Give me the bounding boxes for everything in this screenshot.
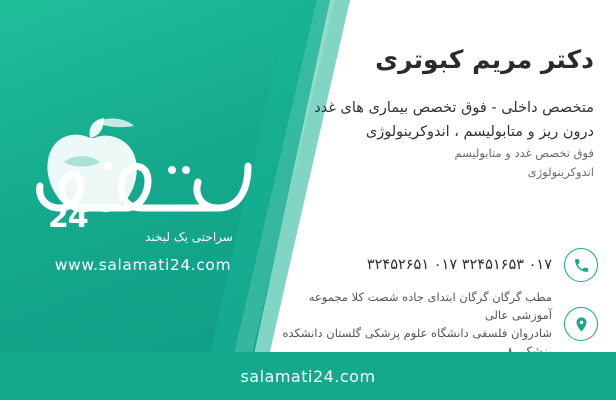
logo-brand-number: 24	[48, 200, 88, 235]
business-card: 24 سراحتی یک لبخند www.salamati24.com دک…	[0, 0, 616, 400]
specialty-line-4: اندوکرینولوژی	[274, 163, 594, 182]
footer-website: salamati24.com	[240, 367, 375, 386]
specialty-block: متخصص داخلی - فوق تخصص بیماری های غدد در…	[274, 96, 594, 182]
footer-bar: salamati24.com	[0, 352, 616, 400]
location-pin-icon	[564, 307, 598, 341]
specialty-line-3: فوق تخصص غدد و متابولیسم	[274, 144, 594, 163]
phone-row: ۳۲۴۵۲۶۵۱ ۰۱۷ ۳۲۴۵۱۶۵۳ ۰۱۷	[367, 248, 598, 282]
doctor-name: دکتر مریم کبوتری	[375, 45, 594, 74]
logo-website: www.salamati24.com	[28, 256, 258, 274]
logo-block: 24 سراحتی یک لبخند www.salamati24.com	[14, 108, 264, 283]
specialty-line-2: درون ریز و متابولیسم ، اندوکرینولوژی	[274, 120, 594, 144]
specialty-line-1: متخصص داخلی - فوق تخصص بیماری های غدد	[274, 96, 594, 120]
phone-numbers: ۳۲۴۵۲۶۵۱ ۰۱۷ ۳۲۴۵۱۶۵۳ ۰۱۷	[367, 257, 552, 273]
location-pin-glyph	[573, 316, 590, 333]
address-row: مطب گرگان گرگان ابتدای جاده شصت کلا مجمو…	[277, 288, 598, 360]
address-line-1: مطب گرگان گرگان ابتدای جاده شصت کلا مجمو…	[277, 288, 552, 324]
address-text: مطب گرگان گرگان ابتدای جاده شصت کلا مجمو…	[277, 288, 552, 360]
logo-tagline: سراحتی یک لبخند	[124, 230, 254, 244]
phone-icon	[564, 248, 598, 282]
phone-glyph	[573, 257, 590, 274]
